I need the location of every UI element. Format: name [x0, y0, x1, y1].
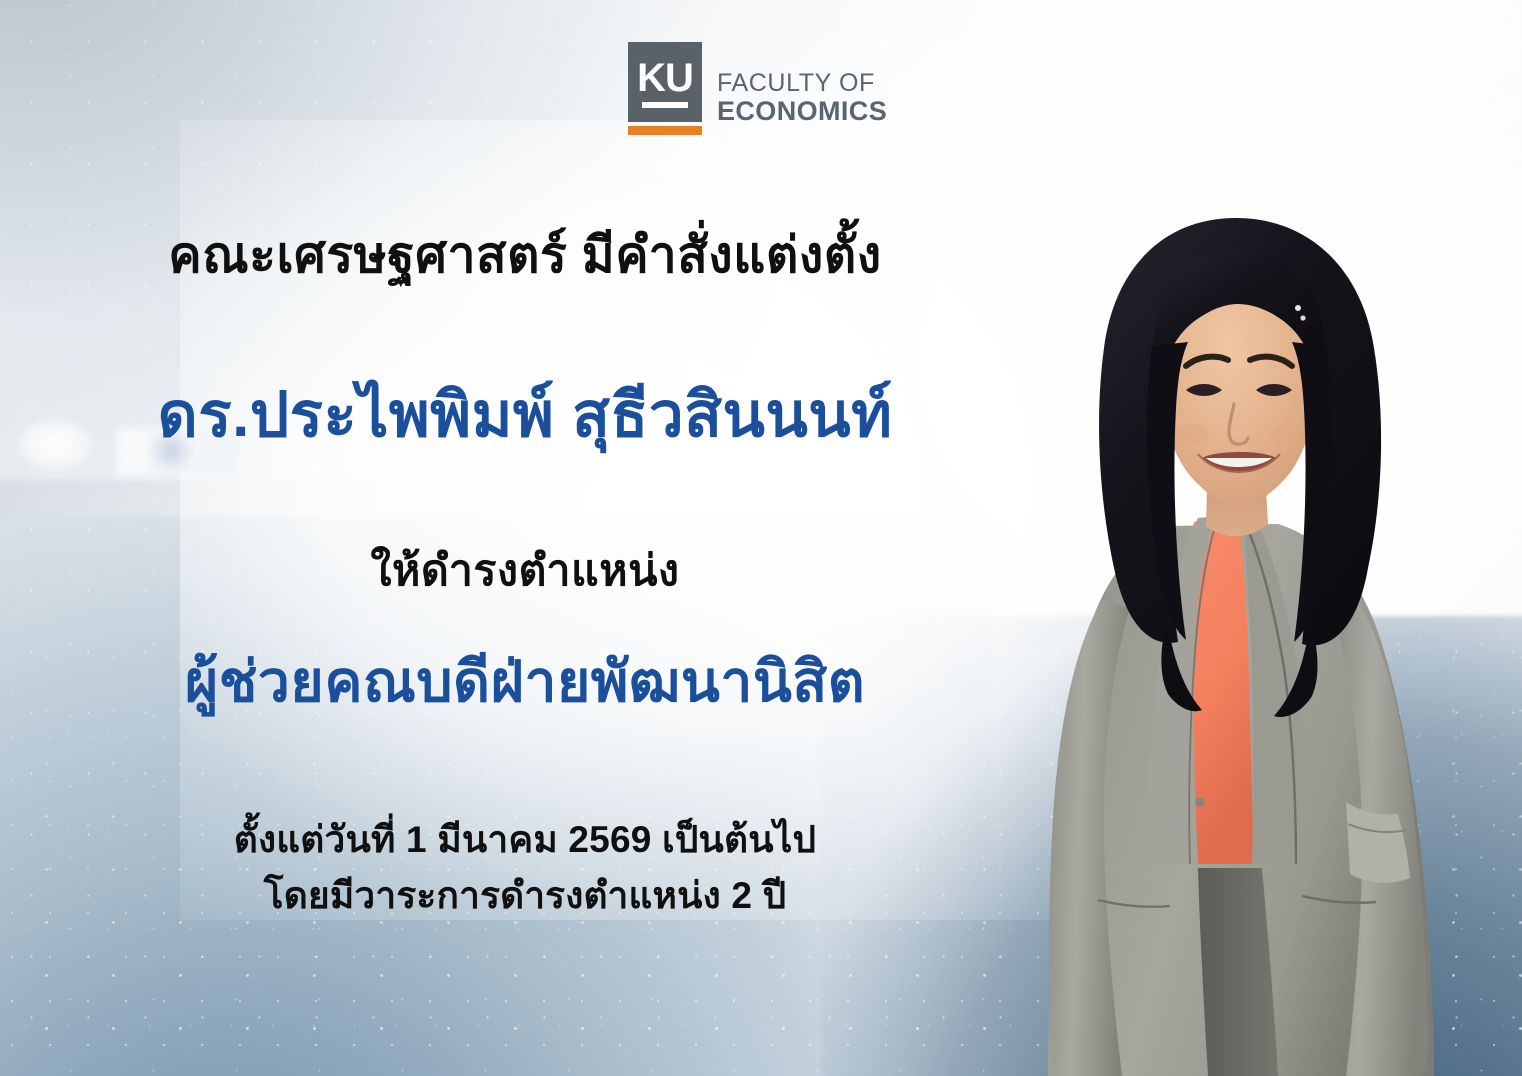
position-title: ผู้ช่วยคณบดีฝ่ายพัฒนานิสิต [0, 649, 1050, 716]
cheek-right [1270, 424, 1302, 444]
cheek-left [1176, 424, 1208, 444]
ku-logo-white-bar [642, 102, 688, 108]
effective-date-block: ตั้งแต่วันที่ 1 มีนาคม 2569 เป็นต้นไป โด… [0, 812, 1050, 924]
announcement-text-block: คณะเศรษฐศาสตร์ มีคำสั่งแต่งตั้ง ดร.ประไพ… [0, 226, 1050, 925]
ku-logo-letters: KU [637, 60, 693, 97]
announcement-poster: KU FACULTY OF ECONOMICS คณะเศรษฐศาสตร์ ม… [0, 0, 1522, 1076]
hairpin-bead-1 [1295, 305, 1301, 311]
ku-faculty-of-economics-logo: KU FACULTY OF ECONOMICS [628, 42, 887, 135]
appointee-name: ดร.ประไพพิมพ์ สุธีวสินนนท์ [0, 379, 1050, 452]
ku-logo-mark: KU [628, 42, 702, 135]
appointee-portrait [1002, 196, 1522, 1076]
faculty-wordmark-line1: FACULTY OF [717, 70, 887, 97]
faculty-wordmark: FACULTY OF ECONOMICS [717, 42, 887, 125]
hairpin-bead-2 [1300, 315, 1305, 320]
blazer-button [1195, 797, 1204, 806]
effective-date-line: ตั้งแต่วันที่ 1 มีนาคม 2569 เป็นต้นไป [0, 812, 1050, 868]
faculty-wordmark-line2: ECONOMICS [717, 97, 887, 126]
term-length-line: โดยมีวาระการดำรงตำแหน่ง 2 ปี [0, 868, 1050, 924]
ku-logo-square: KU [628, 42, 702, 122]
ku-logo-orange-bar [628, 126, 702, 135]
position-prefix: ให้ดำรงตำแหน่ง [0, 546, 1050, 597]
announcement-heading: คณะเศรษฐศาสตร์ มีคำสั่งแต่งตั้ง [0, 226, 1050, 285]
